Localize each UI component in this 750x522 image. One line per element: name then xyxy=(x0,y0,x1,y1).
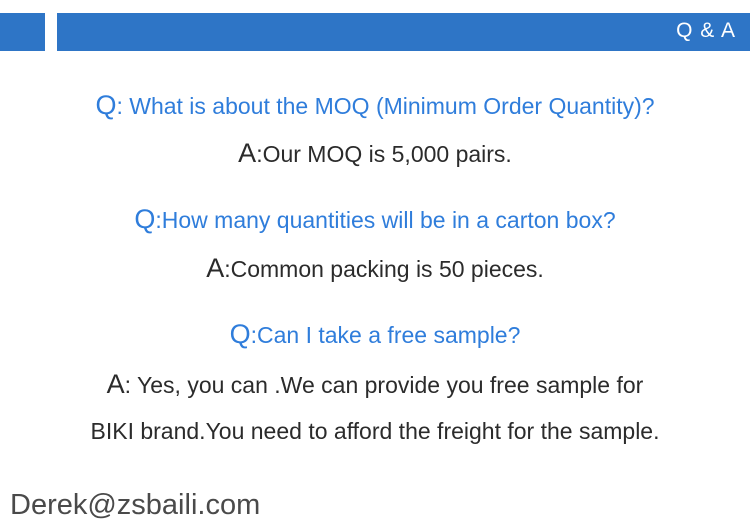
header-bar: Q & A xyxy=(0,13,750,51)
header-main-block: Q & A xyxy=(57,13,750,51)
question-3-lead: Q xyxy=(230,319,251,349)
slide-page: Q & A Q: What is about the MOQ (Minimum … xyxy=(0,0,750,516)
question-2: Q:How many quantities will be in a carto… xyxy=(0,204,750,235)
answer-2: A:Common packing is 50 pieces. xyxy=(0,253,750,284)
question-3-text: :Can I take a free sample? xyxy=(251,322,521,348)
contact-email: Derek@zsbaili.com xyxy=(10,489,260,522)
question-1-lead: Q xyxy=(95,90,116,120)
answer-3-text-line-2: BIKI brand.You need to afford the freigh… xyxy=(91,418,660,444)
header-accent-block xyxy=(0,13,45,51)
answer-1: A:Our MOQ is 5,000 pairs. xyxy=(0,138,750,169)
question-3: Q:Can I take a free sample? xyxy=(0,319,750,350)
answer-1-text: :Our MOQ is 5,000 pairs. xyxy=(256,141,512,167)
question-2-text: :How many quantities will be in a carton… xyxy=(155,207,615,233)
question-1-text: : What is about the MOQ (Minimum Order Q… xyxy=(116,93,654,119)
page-title: Q & A xyxy=(676,19,736,43)
answer-2-lead: A xyxy=(206,253,224,283)
answer-3-line-2: BIKI brand.You need to afford the freigh… xyxy=(0,418,750,445)
question-2-lead: Q xyxy=(134,204,155,234)
answer-3-text-line-1: : Yes, you can .We can provide you free … xyxy=(125,372,644,398)
answer-1-lead: A xyxy=(238,138,256,168)
answer-3-lead: A xyxy=(107,369,125,399)
answer-3-line-1: A: Yes, you can .We can provide you free… xyxy=(0,369,750,400)
answer-2-text: :Common packing is 50 pieces. xyxy=(224,256,544,282)
question-1: Q: What is about the MOQ (Minimum Order … xyxy=(0,90,750,121)
qa-content: Q: What is about the MOQ (Minimum Order … xyxy=(0,51,750,445)
